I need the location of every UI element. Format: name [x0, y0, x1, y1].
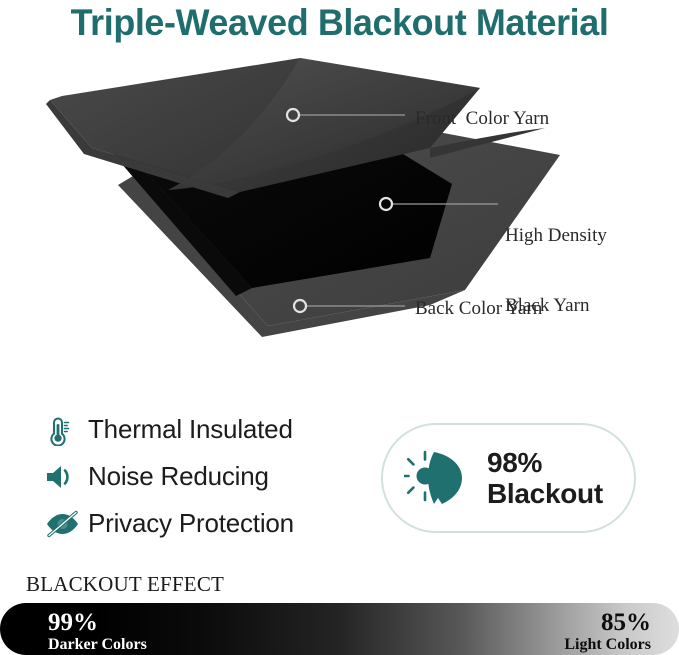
feature-item-noise-reducing: Noise Reducing [44, 453, 364, 500]
callout-label-high-density-black-yarn: High Density Black Yarn [505, 178, 607, 363]
effect-left-label: Darker Colors [48, 636, 147, 654]
blackout-percentage-badge: 98% Blackout [381, 423, 636, 533]
feature-label-thermal-insulated: Thermal Insulated [88, 414, 293, 445]
blackout-effect-gradient-bar: 99% Darker Colors 85% Light Colors [0, 603, 679, 655]
effect-right-label: Light Colors [564, 636, 651, 654]
callout-label-back-color-yarn: Back Color Yarn [415, 297, 542, 320]
thermometer-icon [44, 414, 88, 446]
badge-text: 98% Blackout [487, 447, 603, 510]
feature-item-privacy-protection: Privacy Protection [44, 500, 364, 547]
callout-label-line-1: High Density [505, 224, 607, 247]
blackout-effect-heading: BLACKOUT EFFECT [26, 572, 224, 597]
fabric-layers-diagram: Front Color Yarn High Density Black Yarn… [0, 52, 679, 352]
speaker-sound-icon [44, 462, 88, 492]
feature-label-privacy-protection: Privacy Protection [88, 508, 294, 539]
callout-label-front-color-yarn: Front Color Yarn [415, 107, 549, 130]
effect-bar-left-stat: 99% Darker Colors [48, 609, 147, 654]
effect-left-percent: 99% [48, 609, 147, 636]
badge-label: Blackout [487, 478, 603, 509]
feature-label-noise-reducing: Noise Reducing [88, 461, 269, 492]
feature-list: Thermal Insulated Noise Reducing Privacy… [44, 406, 364, 547]
sun-blocked-by-curtain-icon [383, 447, 487, 509]
effect-bar-right-stat: 85% Light Colors [564, 609, 651, 654]
badge-percent: 98% [487, 447, 603, 478]
page-title: Triple-Weaved Blackout Material [10, 2, 669, 44]
eye-off-icon [44, 510, 88, 538]
feature-item-thermal-insulated: Thermal Insulated [44, 406, 364, 453]
effect-right-percent: 85% [564, 609, 651, 636]
